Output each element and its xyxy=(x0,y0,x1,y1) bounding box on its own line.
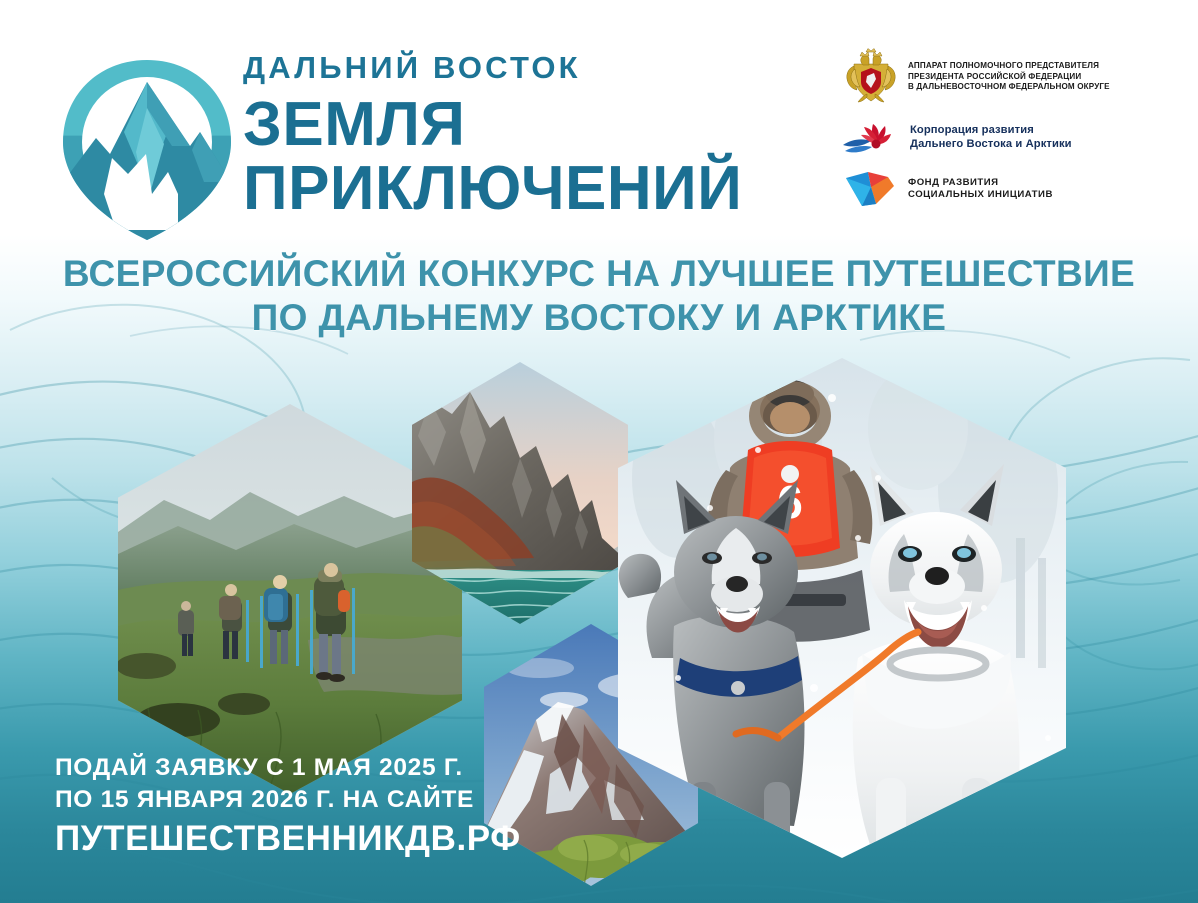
brand-title-line2: ПРИКЛЮЧЕНИЙ xyxy=(243,159,843,219)
partner-3-text: ФОНД РАЗВИТИЯ СОЦИАЛЬНЫХ ИНИЦИАТИВ xyxy=(908,177,1053,202)
partner-far-east-corp: Корпорация развития Дальнего Востока и А… xyxy=(842,115,1172,159)
partner-3-line1: ФОНД РАЗВИТИЯ xyxy=(908,177,1053,189)
poster-header: ДАЛЬНИЙ ВОСТОК ЗЕМЛЯ ПРИКЛЮЧЕНИЙ xyxy=(0,0,1198,250)
cta-website[interactable]: ПУТЕШЕСТВЕННИКДВ.РФ xyxy=(55,818,675,861)
subtitle-line1: ВСЕРОССИЙСКИЙ КОНКУРС НА ЛУЧШЕЕ ПУТЕШЕСТ… xyxy=(0,252,1198,296)
partner-logos: АППАРАТ ПОЛНОМОЧНОГО ПРЕДСТАВИТЕЛЯ ПРЕЗИ… xyxy=(842,48,1172,219)
mountain-pin-logo xyxy=(52,54,242,246)
partner-presidential-envoy: АППАРАТ ПОЛНОМОЧНОГО ПРЕДСТАВИТЕЛЯ ПРЕЗИ… xyxy=(842,48,1172,106)
partner-3-line2: СОЦИАЛЬНЫХ ИНИЦИАТИВ xyxy=(908,189,1053,201)
blue-red-origami-heart-icon xyxy=(842,168,900,210)
partner-2-line1: Корпорация развития xyxy=(910,123,1072,137)
partner-1-line3: В ДАЛЬНЕВОСТОЧНОМ ФЕДЕРАЛЬНОМ ОКРУГЕ xyxy=(908,82,1110,92)
poster-subtitle: ВСЕРОССИЙСКИЙ КОНКУРС НА ЛУЧШЕЕ ПУТЕШЕСТ… xyxy=(0,252,1198,339)
cta-block: ПОДАЙ ЗАЯВКУ С 1 МАЯ 2025 Г. ПО 15 ЯНВАР… xyxy=(55,752,675,861)
cta-line1: ПОДАЙ ЗАЯВКУ С 1 МАЯ 2025 Г. xyxy=(55,752,675,784)
hikers-tundra-photo xyxy=(118,404,462,794)
brand-title-line1: ЗЕМЛЯ xyxy=(243,95,843,155)
red-lotus-wave-icon xyxy=(842,115,904,159)
partner-1-line1: АППАРАТ ПОЛНОМОЧНОГО ПРЕДСТАВИТЕЛЯ xyxy=(908,61,1110,71)
subtitle-line2: ПО ДАЛЬНЕМУ ВОСТОКУ И АРКТИКЕ xyxy=(0,296,1198,340)
partner-2-line2: Дальнего Востока и Арктики xyxy=(910,137,1072,151)
partner-2-text: Корпорация развития Дальнего Востока и А… xyxy=(910,123,1072,152)
cta-line2: ПО 15 ЯНВАРЯ 2026 Г. НА САЙТЕ xyxy=(55,784,675,816)
brand-kicker: ДАЛЬНИЙ ВОСТОК xyxy=(243,52,843,83)
brand-text-block: ДАЛЬНИЙ ВОСТОК ЗЕМЛЯ ПРИКЛЮЧЕНИЙ xyxy=(243,52,843,219)
poster-root: ДАЛЬНИЙ ВОСТОК ЗЕМЛЯ ПРИКЛЮЧЕНИЙ xyxy=(0,0,1198,903)
partner-social-initiatives-fund: ФОНД РАЗВИТИЯ СОЦИАЛЬНЫХ ИНИЦИАТИВ xyxy=(842,168,1172,210)
russian-coat-of-arms-icon xyxy=(842,48,900,106)
partner-1-line2: ПРЕЗИДЕНТА РОССИЙСКОЙ ФЕДЕРАЦИИ xyxy=(908,72,1110,82)
partner-1-text: АППАРАТ ПОЛНОМОЧНОГО ПРЕДСТАВИТЕЛЯ ПРЕЗИ… xyxy=(908,61,1110,92)
